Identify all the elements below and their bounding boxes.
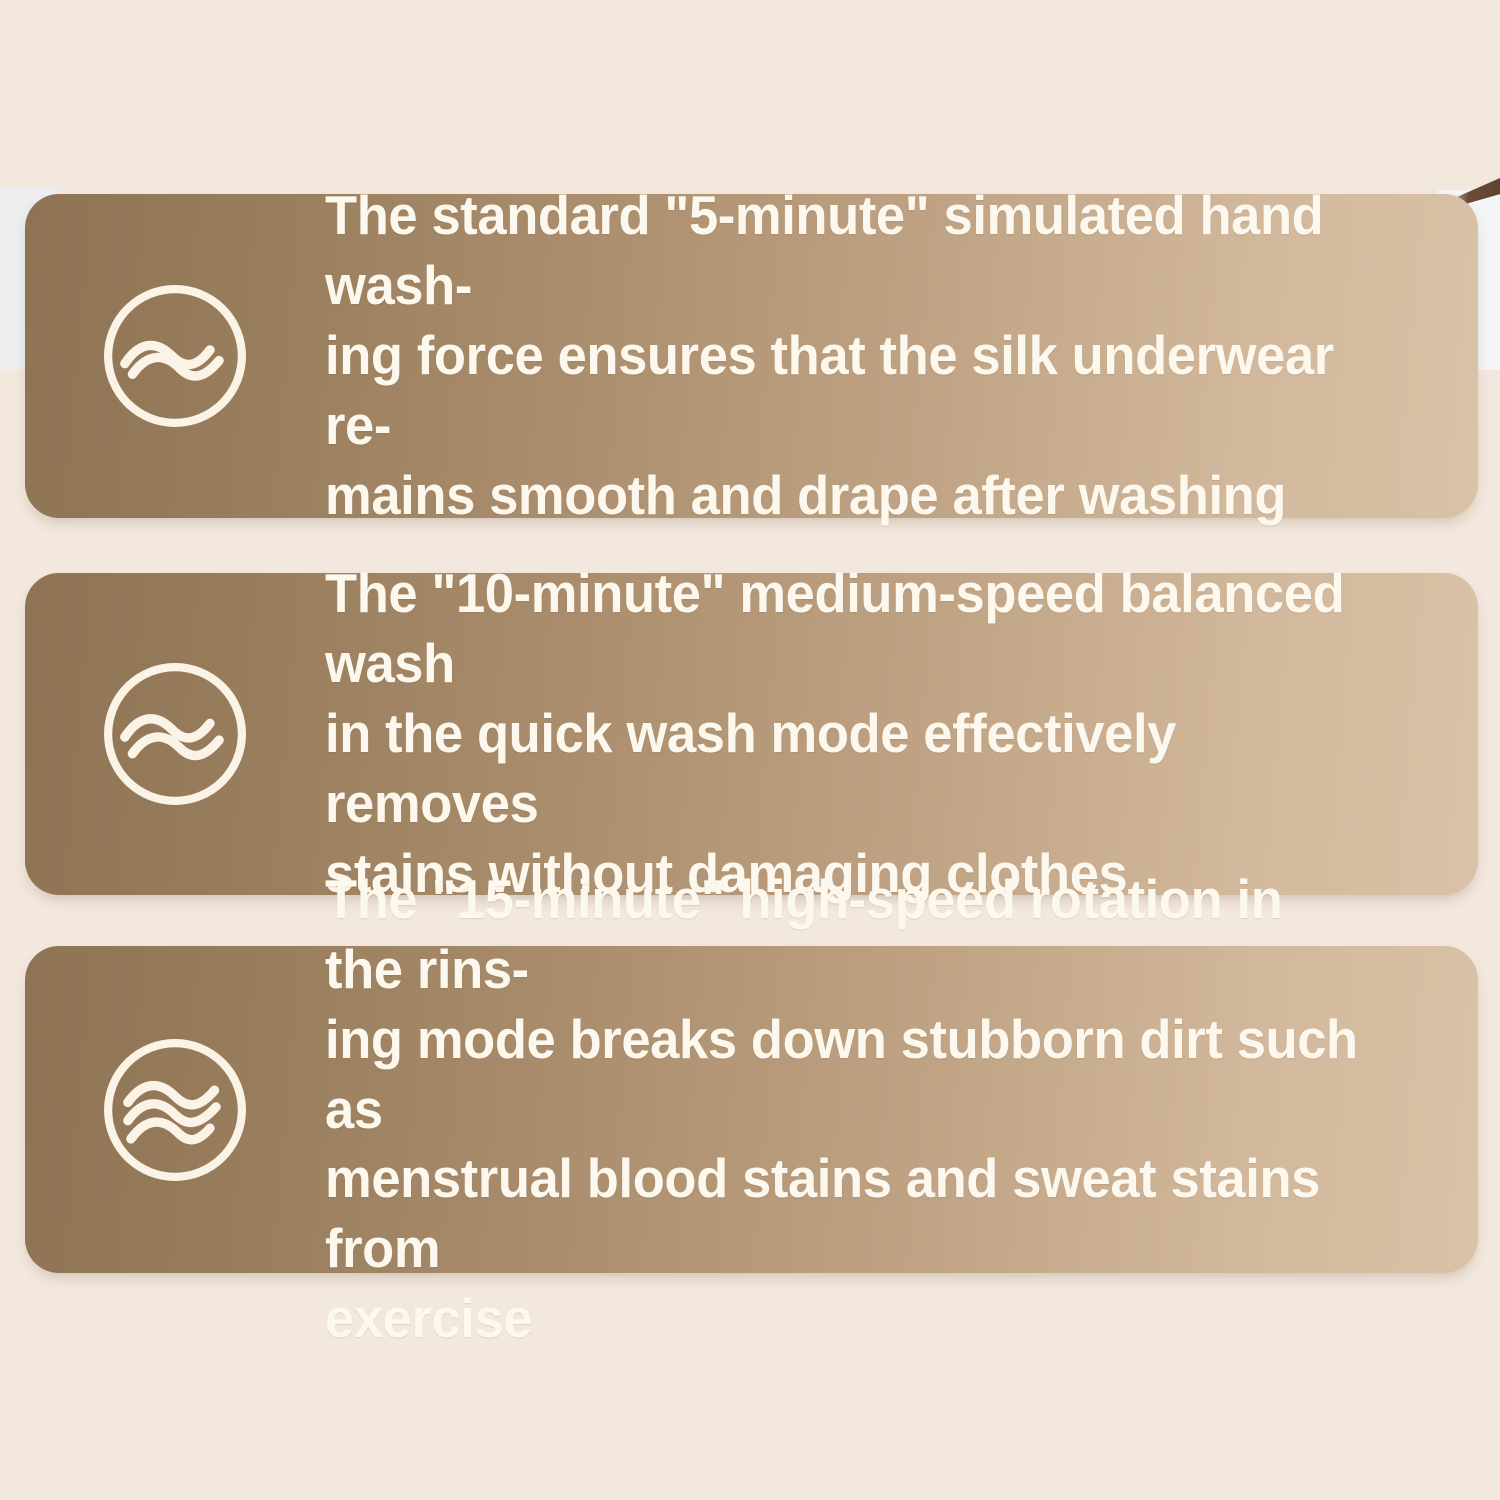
feature-card-10-minute[interactable]: The "10-minute" medium-speed balanced wa… (25, 573, 1478, 895)
water-wave-circle-icon (99, 280, 251, 432)
feature-card-icon-slot (25, 658, 325, 810)
water-wave-circle-icon (99, 658, 251, 810)
water-wave-circle-icon (99, 1034, 251, 1186)
feature-card-text: The "15-minute" high-speed rotation in t… (325, 865, 1426, 1354)
feature-card-list: The standard "5-minute" simulated hand w… (0, 0, 1500, 1500)
feature-card-15-minute[interactable]: The "15-minute" high-speed rotation in t… (25, 946, 1478, 1273)
feature-card-text: The "10-minute" medium-speed balanced wa… (325, 559, 1426, 908)
feature-card-icon-slot (25, 280, 325, 432)
page-root: The standard "5-minute" simulated hand w… (0, 0, 1500, 1500)
feature-card-icon-slot (25, 1034, 325, 1186)
feature-card-5-minute[interactable]: The standard "5-minute" simulated hand w… (25, 194, 1478, 518)
feature-card-text: The standard "5-minute" simulated hand w… (325, 181, 1426, 530)
